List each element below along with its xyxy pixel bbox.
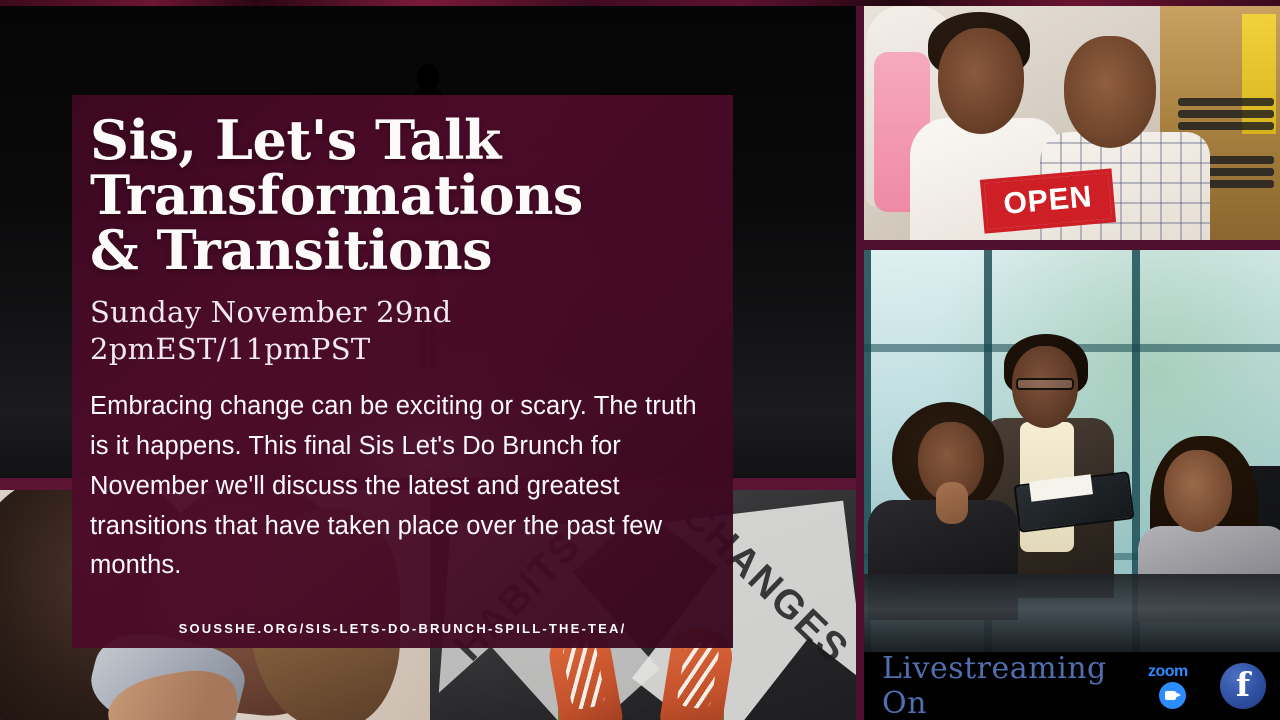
title-line-3: & Transitions [90, 223, 711, 278]
businesswomen-meeting-photo [864, 250, 1280, 652]
boutique-owners-photo: OPEN [864, 6, 1280, 240]
event-description: Embracing change can be exciting or scar… [90, 387, 710, 586]
event-details-card: Sis, Let's Talk Transformations & Transi… [72, 95, 733, 648]
right-column: OPEN Livestreaming On [856, 6, 1280, 720]
zoom-icon[interactable]: zoom [1146, 663, 1204, 709]
open-sign: OPEN [980, 168, 1116, 233]
title-line-1: Sis, Let's Talk [90, 113, 711, 168]
page-title: Sis, Let's Talk Transformations & Transi… [90, 113, 711, 278]
livestreaming-bar: Livestreaming On zoom [864, 652, 1280, 720]
zoom-wordmark: zoom [1148, 663, 1188, 681]
eyeglasses [1016, 378, 1074, 390]
flyer-canvas: HABITS CHANGES Sis, Let's Talk Transform… [0, 0, 1280, 720]
title-line-2: Transformations [90, 168, 711, 223]
open-sign-text: OPEN [984, 173, 1112, 230]
top-accent-strip [0, 0, 1280, 6]
conference-table [864, 574, 1280, 652]
zoom-camera-icon [1159, 682, 1186, 709]
livestreaming-label: Livestreaming On [882, 651, 1130, 720]
facebook-icon[interactable] [1220, 663, 1266, 709]
event-url[interactable]: SOUSSHE.ORG/SIS-LETS-DO-BRUNCH-SPILL-THE… [72, 621, 733, 636]
event-date: Sunday November 29nd [90, 294, 711, 331]
event-time: 2pmEST/11pmPST [90, 331, 711, 368]
event-datetime: Sunday November 29nd 2pmEST/11pmPST [90, 294, 711, 367]
woman-right [1064, 36, 1156, 148]
woman-left [938, 28, 1024, 134]
woman-right-seated [1164, 450, 1232, 532]
